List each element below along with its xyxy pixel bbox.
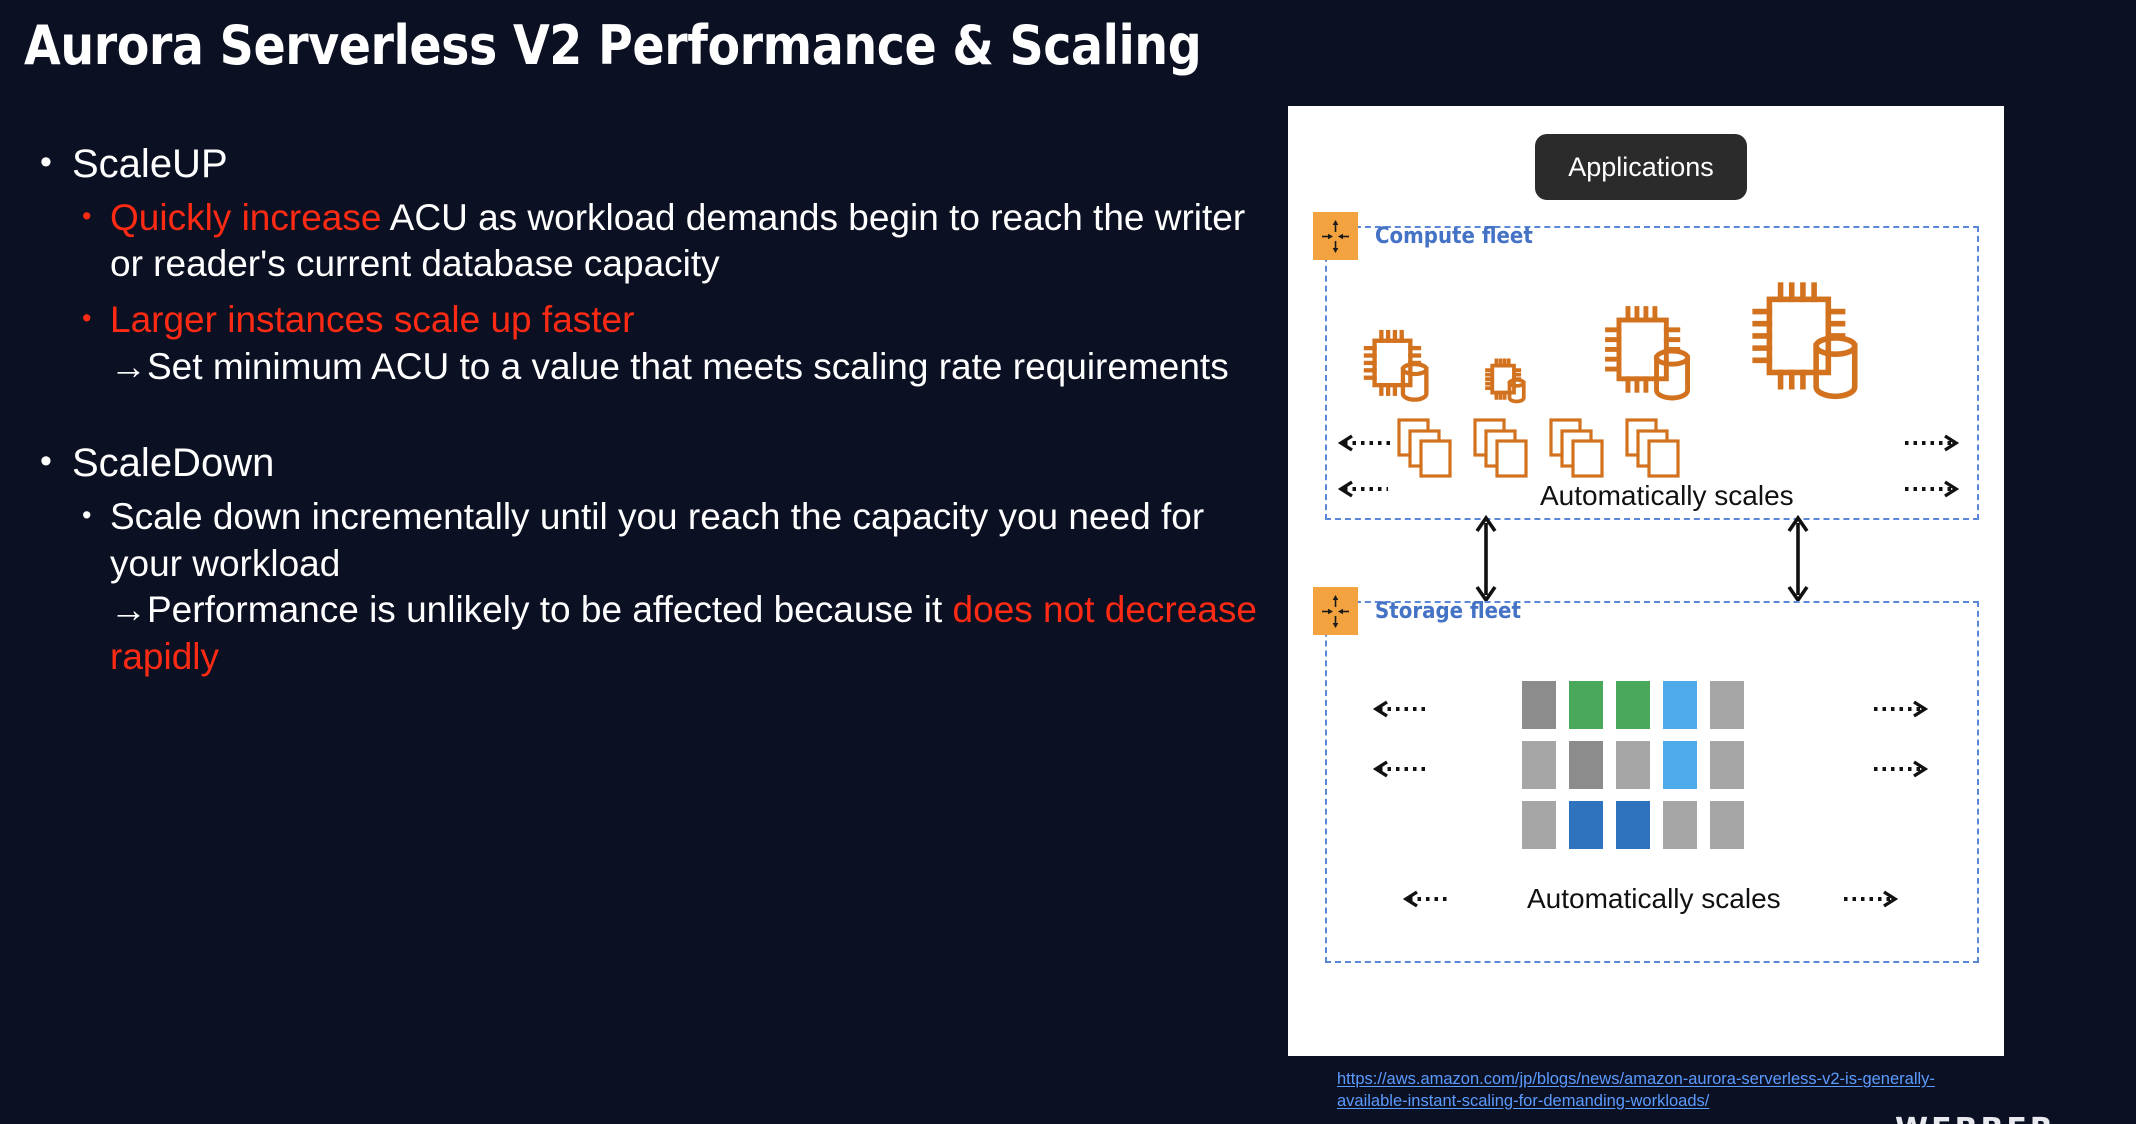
bullet-marker: •: [82, 196, 91, 237]
scale-out-arrow-right-icon: [1872, 758, 1934, 780]
bullet-scaleup-label: ScaleUP: [72, 142, 228, 186]
scale-in-arrow-left-icon: [1332, 432, 1394, 454]
scale-out-arrow-right-icon: [1903, 432, 1965, 454]
scale-out-arrow-right-icon: [1903, 478, 1965, 500]
compute-fleet-label: Compute fleet: [1375, 224, 1533, 249]
bullet-scaleup-sub-1: • Quickly increase ACU as workload deman…: [18, 195, 1268, 288]
bullet-highlight-text: Larger instances scale up faster: [110, 299, 634, 340]
bullet-scaleup-sublist: • Quickly increase ACU as workload deman…: [18, 195, 1268, 390]
scale-four-way-arrow-icon: [1313, 587, 1358, 635]
storage-fleet-box: Storage fleet: [1325, 601, 1979, 963]
bullet-marker: •: [82, 298, 91, 339]
fleet-connector-arrow-left: [1473, 515, 1499, 603]
bullet-highlight-text: Quickly increase: [110, 197, 381, 238]
bullet-scaledown: • ScaleDown: [18, 439, 1268, 488]
scale-in-arrow-left-icon: [1332, 478, 1394, 500]
slide-canvas: Aurora Serverless V2 Performance & Scali…: [0, 0, 2136, 1124]
storage-node: [1569, 801, 1603, 849]
storage-node: [1663, 681, 1697, 729]
storage-node: [1710, 801, 1744, 849]
compute-fleet-box: Compute fleet: [1325, 226, 1979, 520]
bullet-scaledown-label: ScaleDown: [72, 441, 274, 485]
storage-fleet-label: Storage fleet: [1375, 599, 1521, 624]
bullet-body-text-2: →Performance is unlikely to be affected …: [110, 589, 953, 630]
storage-node: [1616, 741, 1650, 789]
capacity-stack-group: [1549, 418, 1611, 478]
bullet-scaledown-sub-1: • Scale down incrementally until you rea…: [18, 494, 1268, 680]
storage-node: [1522, 741, 1556, 789]
scale-in-arrow-left-icon: [1367, 758, 1429, 780]
instance-small-icon: [1484, 357, 1529, 405]
bullet-marker: •: [40, 439, 52, 484]
instance-medium-icon: [1361, 327, 1435, 405]
page-title: Aurora Serverless V2 Performance & Scali…: [24, 18, 1344, 75]
storage-node: [1616, 801, 1650, 849]
scale-out-arrow-right-icon: [1872, 698, 1934, 720]
storage-node-grid: [1522, 681, 1744, 849]
instance-xlarge-icon: [1747, 277, 1869, 405]
bullet-marker: •: [82, 495, 91, 536]
bullet-scaleup-sub-2: • Larger instances scale up faster →Set …: [18, 297, 1268, 390]
section-spacer: [18, 399, 1268, 439]
storage-node: [1569, 681, 1603, 729]
applications-box: Applications: [1535, 134, 1747, 200]
bullet-marker: •: [40, 140, 52, 185]
scale-out-arrow-right-icon: [1842, 888, 1904, 910]
bullet-scaledown-sublist: • Scale down incrementally until you rea…: [18, 494, 1268, 680]
storage-node: [1569, 741, 1603, 789]
watermark-text: WEBBER: [1895, 1112, 2056, 1124]
storage-node: [1710, 681, 1744, 729]
storage-node: [1663, 801, 1697, 849]
storage-node: [1710, 741, 1744, 789]
capacity-stack-group: [1473, 418, 1535, 478]
storage-node: [1663, 741, 1697, 789]
source-url-link[interactable]: https://aws.amazon.com/jp/blogs/news/ama…: [1337, 1069, 1937, 1113]
storage-node: [1616, 681, 1650, 729]
compute-instance-row: [1339, 280, 1965, 405]
bullet-scaleup: • ScaleUP: [18, 140, 1268, 189]
storage-node: [1522, 801, 1556, 849]
compute-autoscale-label: Automatically scales: [1540, 480, 1794, 512]
capacity-stack-group: [1397, 418, 1459, 478]
compute-stack-row: [1327, 418, 1973, 478]
scale-in-arrow-left-icon: [1397, 888, 1459, 910]
bullet-body-text: Scale down incrementally until you reach…: [110, 496, 1204, 584]
instance-large-icon: [1601, 302, 1699, 405]
scale-in-arrow-left-icon: [1367, 698, 1429, 720]
fleet-connector-arrow-right: [1785, 515, 1811, 603]
storage-autoscale-label: Automatically scales: [1527, 883, 1781, 915]
diagram-panel: Applications Compu: [1288, 106, 2004, 1056]
capacity-stack-group: [1625, 418, 1687, 478]
storage-node: [1522, 681, 1556, 729]
bullet-body-text: →Set minimum ACU to a value that meets s…: [110, 346, 1229, 387]
bullet-body: • ScaleUP • Quickly increase ACU as work…: [18, 140, 1268, 689]
applications-label: Applications: [1568, 152, 1714, 183]
scale-four-way-arrow-icon: [1313, 212, 1358, 260]
